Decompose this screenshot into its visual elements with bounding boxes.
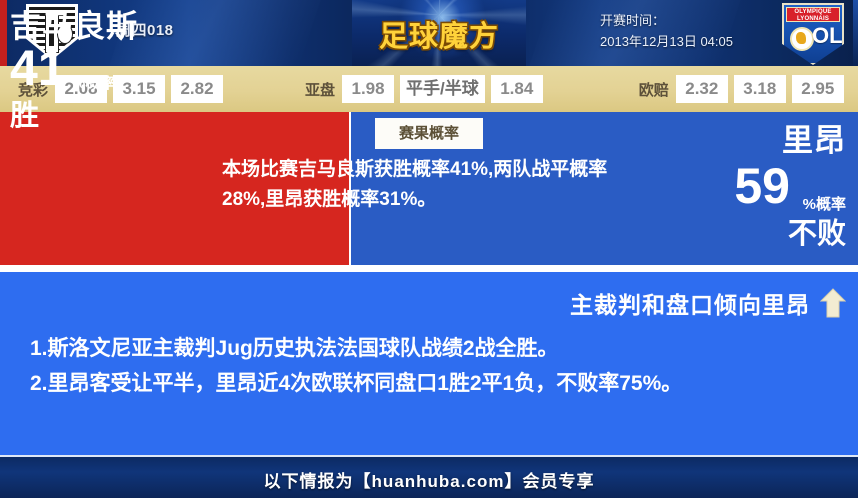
home-probability-value: 41 xyxy=(10,42,66,94)
header-accent-stripe xyxy=(0,0,7,66)
analysis-headline: 主裁判和盘口倾向里昂 xyxy=(570,286,810,320)
kickoff-time: 2013年12月13日 04:05 xyxy=(600,31,770,52)
home-team-name: 吉马良斯 xyxy=(10,10,138,44)
footer-notice: 以下情报为【huanhuba.com】会员专享 xyxy=(0,467,858,492)
away-team-name: 里昂 xyxy=(782,124,846,158)
away-crest-banner-line2: LYONNAIS xyxy=(797,16,829,22)
odds-value-jingcai-away[interactable]: 2.82 xyxy=(171,75,223,103)
away-team-crest-icon: OLYMPIQUE LYONNAIS OL xyxy=(782,3,842,63)
odds-label-asian: 亚盘 xyxy=(305,79,335,100)
analysis-note-1: 1.斯洛文尼亚主裁判Jug历史执法法国球队战绩2战全胜。 xyxy=(30,332,840,365)
odds-value-european-home[interactable]: 2.32 xyxy=(676,75,728,103)
soccer-prediction-infographic: 周四018 足球魔方 开赛时间： 2013年12月13日 04:05 OLYMP… xyxy=(0,0,858,498)
away-probability-result: 不败 xyxy=(788,218,846,250)
home-probability-unit: %概率 xyxy=(72,72,115,93)
tab-result-probability[interactable]: 赛果概率 xyxy=(375,118,483,149)
odds-value-asian-away[interactable]: 1.84 xyxy=(491,75,543,103)
odds-label-european: 欧赔 xyxy=(639,79,669,100)
odds-value-european-away[interactable]: 2.95 xyxy=(792,75,844,103)
odds-value-european-draw[interactable]: 3.18 xyxy=(734,75,786,103)
odds-value-asian-handicap[interactable]: 平手/半球 xyxy=(400,75,485,103)
odds-group-asian: 亚盘 1.98 平手/半球 1.84 xyxy=(305,75,549,103)
analysis-notes: 1.斯洛文尼亚主裁判Jug历史执法法国球队战绩2战全胜。 2.里昂客受让平半，里… xyxy=(30,332,840,402)
footer-bar: 以下情报为【huanhuba.com】会员专享 xyxy=(0,455,858,498)
header-right-edge xyxy=(853,0,858,66)
away-crest-banner-line1: OLYMPIQUE xyxy=(794,9,831,15)
kickoff-block: 开赛时间： 2013年12月13日 04:05 xyxy=(600,10,770,52)
away-crest-initials: OL xyxy=(812,24,843,48)
away-probability-value: 59 xyxy=(734,160,790,212)
brand-title: 足球魔方 xyxy=(352,13,526,55)
arrow-up-icon xyxy=(820,288,846,318)
brand-logo: 足球魔方 xyxy=(352,0,526,66)
home-probability-result: 胜 xyxy=(10,100,39,132)
analysis-note-2: 2.里昂客受让平半，里昂近4次欧联杯同盘口1胜2平1负，不败率75%。 xyxy=(30,367,840,400)
kickoff-label: 开赛时间： xyxy=(600,10,770,31)
odds-value-jingcai-draw[interactable]: 3.15 xyxy=(113,75,165,103)
away-probability-unit: %概率 xyxy=(803,193,846,214)
odds-value-asian-home[interactable]: 1.98 xyxy=(342,75,394,103)
odds-bar: 竞彩 2.08 3.15 2.82 亚盘 1.98 平手/半球 1.84 欧赔 … xyxy=(0,66,858,112)
odds-group-european: 欧赔 2.32 3.18 2.95 xyxy=(639,75,850,103)
lion-icon xyxy=(790,27,814,51)
probability-summary: 本场比赛吉马良斯获胜概率41%,两队战平概率28%,里昂获胜概率31%。 xyxy=(222,155,622,215)
